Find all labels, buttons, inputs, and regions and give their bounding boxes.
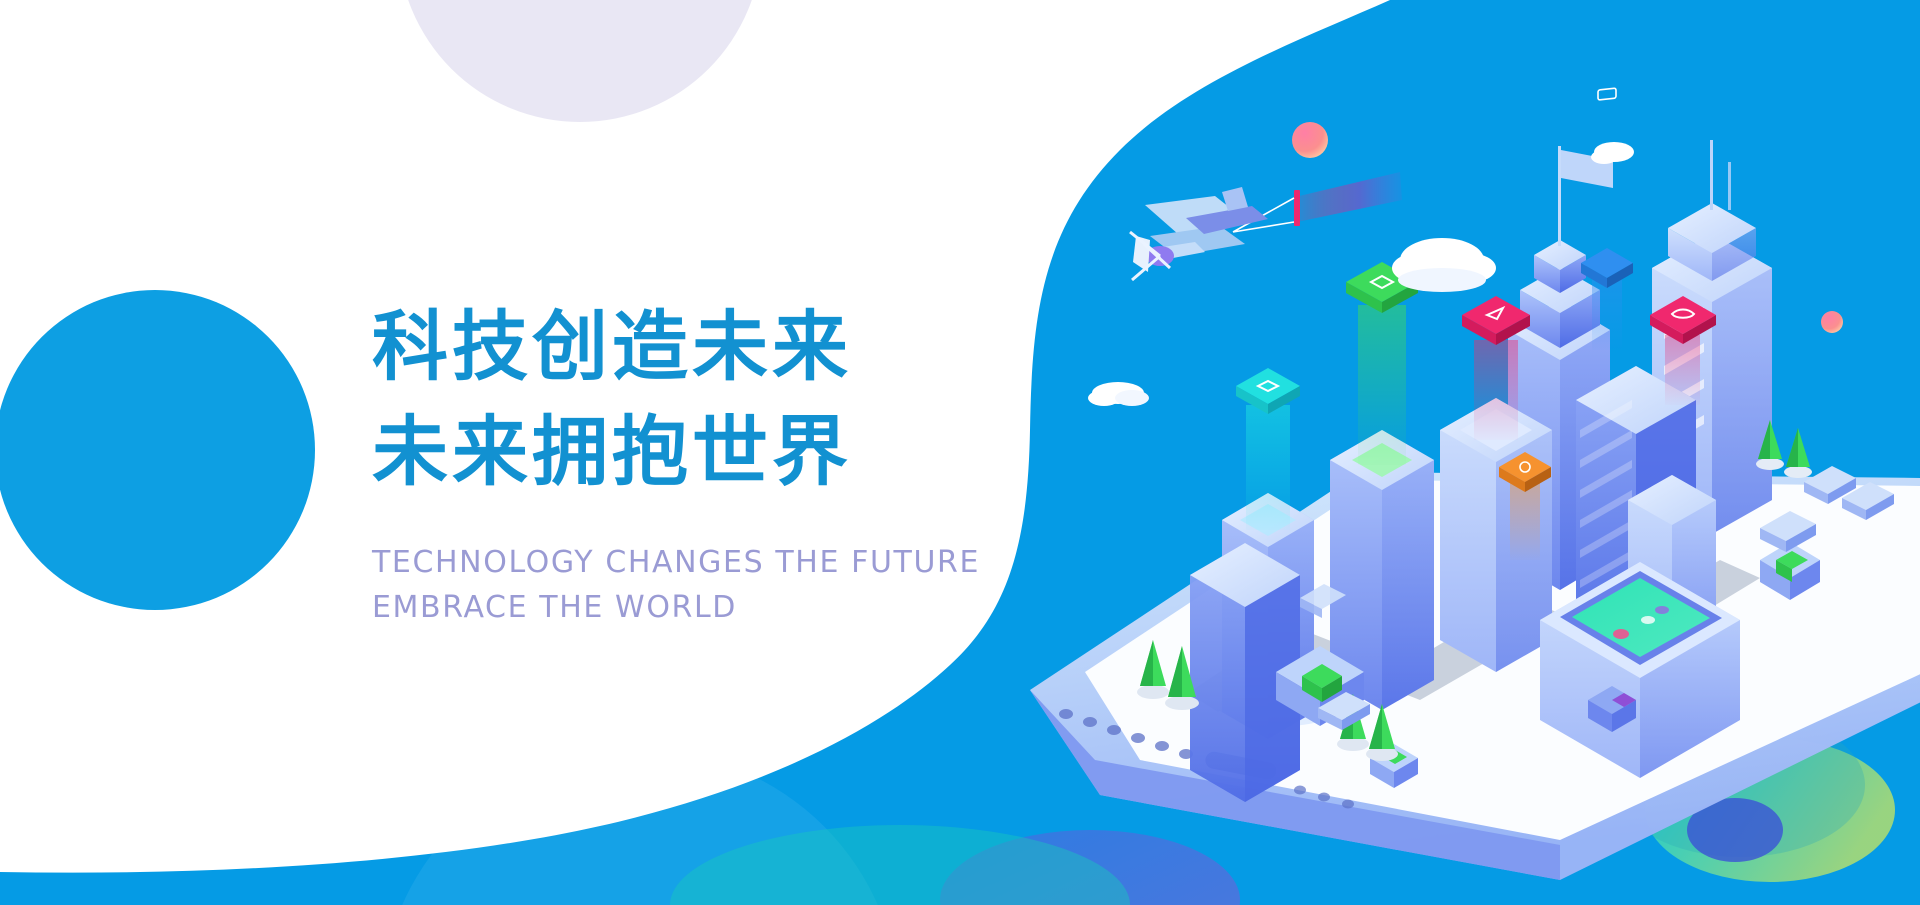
hero-text-block: 科技创造未来 未来拥抱世界 TECHNOLOGY CHANGES THE FUT… (372, 296, 1072, 631)
pink-sphere-small (1821, 311, 1843, 333)
headline-line-1: 科技创造未来 (372, 296, 1072, 401)
subtitle-line-2: EMBRACE THE WORLD (372, 585, 1072, 631)
subtitle-block: TECHNOLOGY CHANGES THE FUTURE EMBRACE TH… (372, 540, 1072, 631)
subtitle-line-1: TECHNOLOGY CHANGES THE FUTURE (372, 540, 1072, 586)
pink-sphere-large (1292, 122, 1328, 158)
blue-circle (0, 290, 315, 610)
hero-banner: 科技创造未来 未来拥抱世界 TECHNOLOGY CHANGES THE FUT… (0, 0, 1920, 905)
headline-line-2: 未来拥抱世界 (372, 401, 1072, 506)
